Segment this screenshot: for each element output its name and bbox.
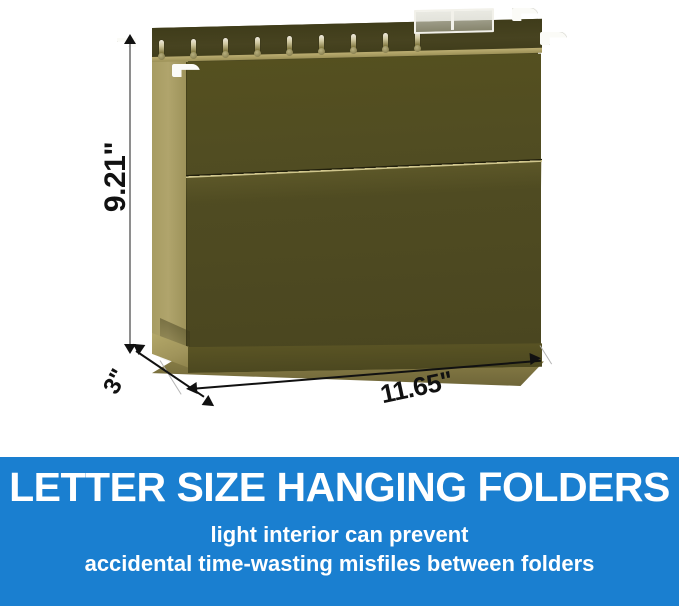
folder-slot-hole xyxy=(191,39,196,56)
folder-light-interior-wall xyxy=(152,51,188,352)
height-dimension-label: 9.21" xyxy=(99,122,133,232)
banner-headline: LETTER SIZE HANGING FOLDERS xyxy=(9,466,670,509)
folder-slot-hole xyxy=(287,36,292,53)
folder-slot-hole xyxy=(383,33,388,50)
folder-slot-hole xyxy=(223,38,228,55)
height-arrow-top-icon xyxy=(124,34,136,44)
banner-subline-2: accidental time-wasting misfiles between… xyxy=(85,550,595,578)
label-tab-divider xyxy=(451,10,454,30)
hanging-hook-right-front-icon xyxy=(540,32,567,45)
folder-slot-hole xyxy=(415,32,420,49)
folder-slot-hole xyxy=(255,37,260,54)
label-tab-holder xyxy=(414,8,494,34)
folder-front-panel xyxy=(186,54,541,358)
folder-slot-hole xyxy=(159,40,164,57)
banner-subline-1: light interior can prevent xyxy=(211,521,469,549)
promo-banner: LETTER SIZE HANGING FOLDERS light interi… xyxy=(0,457,679,606)
folder-slot-hole xyxy=(351,34,356,51)
product-photo-area: 9.21" 11.65" 3" xyxy=(0,0,679,457)
folder-slot-hole xyxy=(319,35,324,52)
width-arrow-right-icon xyxy=(530,352,542,365)
